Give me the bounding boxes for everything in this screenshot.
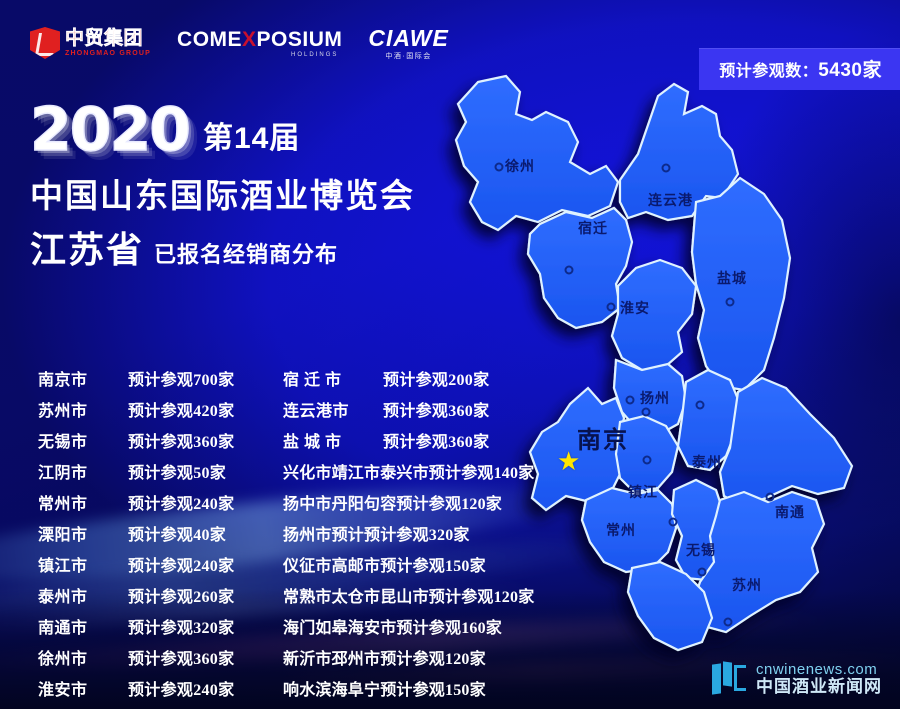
watermark-text: cnwinenews.com 中国酒业新闻网 [756, 662, 882, 697]
city-name: 南京市 [38, 366, 128, 390]
comexposium-subtext: HOLDINGS [291, 52, 338, 58]
badge-label: 预计参观数： [719, 63, 818, 80]
row-right-cell: 盐 城 市 预计参观360家 [283, 428, 558, 452]
map-label-xuzhou: 徐州 [505, 156, 535, 176]
row-right-cell: 连云港市 预计参观360家 [283, 397, 558, 421]
table-row: 镇江市 预计参观240家 仪征市高邮市预计参观150家 [38, 552, 558, 583]
city-value: 预计参观700家 [128, 366, 234, 390]
poster-canvas: 徐州 宿迁 连云港 淮安 盐城 扬州 南京 泰州 镇江 南通 常州 无锡 苏州 … [0, 0, 900, 709]
city-value: 预计参观50家 [128, 459, 226, 483]
zhongmao-wordmark: 中贸集团 ZHONGMAO GROUP [65, 29, 151, 57]
headline-block: 2020 第14届 中国山东国际酒业博览会 江苏省 已报名经销商分布 [30, 100, 500, 268]
comexposium-wordmark: COMEXPOSIUM [177, 29, 342, 50]
row-left-cell: 溧阳市 预计参观40家 [38, 521, 283, 545]
year-edition-row: 2020 第14届 [30, 100, 500, 160]
row-right-cell: 常熟市太仓市昆山市预计参观120家 [283, 583, 558, 607]
map-label-suqian: 宿迁 [578, 218, 608, 238]
table-row: 苏州市 预计参观420家 连云港市 预计参观360家 [38, 397, 558, 428]
table-row: 泰州市 预计参观260家 常熟市太仓市昆山市预计参观120家 [38, 583, 558, 614]
city-name: 镇江市 [38, 552, 128, 576]
sponsor-logo-bar: 中贸集团 ZHONGMAO GROUP COMEXPOSIUM HOLDINGS… [30, 22, 449, 64]
city-value: 预计参观360家 [383, 428, 489, 452]
comexposium-x-icon: X [242, 28, 257, 51]
row-left-cell: 南京市 预计参观700家 [38, 366, 283, 390]
row-right-cell: 新沂市邳州市预计参观120家 [283, 645, 558, 669]
zhongmao-cn-text: 中贸集团 [65, 29, 151, 48]
city-name: 江阴市 [38, 459, 128, 483]
zhongmao-shield-icon [30, 27, 60, 59]
city-group-value: 新沂市邳州市预计参观120家 [283, 645, 486, 669]
city-value: 预计参观240家 [128, 676, 234, 700]
city-name: 无锡市 [38, 428, 128, 452]
year-title: 2020 [30, 100, 189, 160]
province-title: 江苏省 [30, 232, 144, 268]
row-left-cell: 镇江市 预计参观240家 [38, 552, 283, 576]
map-label-changzhou: 常州 [606, 520, 636, 540]
table-row: 无锡市 预计参观360家 盐 城 市 预计参观360家 [38, 428, 558, 459]
province-subtitle: 已报名经销商分布 [154, 244, 338, 266]
city-value: 预计参观260家 [128, 583, 234, 607]
row-left-cell: 徐州市 预计参观360家 [38, 645, 283, 669]
site-watermark[interactable]: cnwinenews.com 中国酒业新闻网 [712, 662, 882, 697]
ciawe-wordmark: CIAWE [368, 27, 448, 50]
city-value: 预计参观320家 [128, 614, 234, 638]
city-value: 预计参观360家 [128, 645, 234, 669]
row-left-cell: 苏州市 预计参观420家 [38, 397, 283, 421]
comexposium-part-b: POSIUM [257, 28, 343, 51]
watermark-cn-name: 中国酒业新闻网 [756, 678, 882, 697]
edition-title: 第14届 [203, 124, 300, 160]
table-row: 南京市 预计参观700家 宿 迁 市 预计参观200家 [38, 366, 558, 397]
city-name: 宿 迁 市 [283, 366, 383, 390]
dealer-distribution-table: 南京市 预计参观700家 宿 迁 市 预计参观200家 苏州市 预计参观420家… [38, 366, 558, 707]
watermark-url: cnwinenews.com [756, 662, 882, 679]
city-group-value: 海门如皋海安市预计参观160家 [283, 614, 502, 638]
city-value: 预计参观200家 [383, 366, 489, 390]
cnwinenews-logo-icon [712, 662, 748, 696]
city-name: 淮安市 [38, 676, 128, 700]
city-name: 溧阳市 [38, 521, 128, 545]
city-value: 预计参观40家 [128, 521, 226, 545]
city-value: 预计参观240家 [128, 490, 234, 514]
city-name: 徐州市 [38, 645, 128, 669]
city-name: 常州市 [38, 490, 128, 514]
city-name: 南通市 [38, 614, 128, 638]
row-right-cell: 响水滨海阜宁预计参观150家 [283, 676, 558, 700]
city-value: 预计参观420家 [128, 397, 234, 421]
map-label-yangzhou: 扬州 [640, 388, 670, 408]
row-right-cell: 兴化市靖江市泰兴市预计参观140家 [283, 459, 558, 483]
row-right-cell: 宿 迁 市 预计参观200家 [283, 366, 558, 390]
row-left-cell: 无锡市 预计参观360家 [38, 428, 283, 452]
city-name: 苏州市 [38, 397, 128, 421]
map-label-zhenjiang: 镇江 [628, 482, 658, 502]
logo-zhongmao-group[interactable]: 中贸集团 ZHONGMAO GROUP [30, 27, 151, 59]
city-name: 盐 城 市 [283, 428, 383, 452]
ciawe-subtext: 中酒·国际会 [385, 53, 431, 60]
city-name: 泰州市 [38, 583, 128, 607]
zhongmao-en-text: ZHONGMAO GROUP [65, 50, 151, 57]
region-nantong[interactable] [720, 378, 852, 506]
table-row: 溧阳市 预计参观40家 扬州市预计预计参观320家 [38, 521, 558, 552]
row-left-cell: 南通市 预计参观320家 [38, 614, 283, 638]
city-value: 预计参观240家 [128, 552, 234, 576]
row-left-cell: 淮安市 预计参观240家 [38, 676, 283, 700]
logo-ciawe[interactable]: CIAWE 中酒·国际会 [368, 27, 448, 60]
table-row: 淮安市 预计参观240家 响水滨海阜宁预计参观150家 [38, 676, 558, 707]
map-label-yancheng: 盐城 [717, 268, 747, 288]
map-label-nantong: 南通 [775, 502, 805, 522]
map-label-nanjing: 南京 [577, 420, 629, 455]
map-label-suzhou: 苏州 [732, 575, 762, 595]
row-left-cell: 江阴市 预计参观50家 [38, 459, 283, 483]
city-group-value: 扬中市丹阳句容预计参观120家 [283, 490, 502, 514]
row-right-cell: 扬中市丹阳句容预计参观120家 [283, 490, 558, 514]
row-right-cell: 扬州市预计预计参观320家 [283, 521, 558, 545]
badge-value: 5430家 [818, 60, 882, 81]
expected-visitors-badge: 预计参观数：5430家 [699, 48, 900, 90]
map-label-taizhou: 泰州 [692, 452, 722, 472]
province-row: 江苏省 已报名经销商分布 [30, 232, 500, 268]
city-value: 预计参观360家 [383, 397, 489, 421]
city-group-value: 仪征市高邮市预计参观150家 [283, 552, 486, 576]
row-right-cell: 仪征市高邮市预计参观150家 [283, 552, 558, 576]
map-label-wuxi: 无锡 [686, 540, 716, 560]
comexposium-part-a: COME [177, 28, 242, 51]
city-group-value: 扬州市预计预计参观320家 [283, 521, 470, 545]
city-group-value: 常熟市太仓市昆山市预计参观120家 [283, 583, 534, 607]
row-right-cell: 海门如皋海安市预计参观160家 [283, 614, 558, 638]
table-row: 常州市 预计参观240家 扬中市丹阳句容预计参观120家 [38, 490, 558, 521]
logo-comexposium[interactable]: COMEXPOSIUM HOLDINGS [177, 29, 342, 58]
city-group-value: 兴化市靖江市泰兴市预计参观140家 [283, 459, 534, 483]
map-label-lianyungang: 连云港 [648, 190, 693, 210]
table-row: 江阴市 预计参观50家 兴化市靖江市泰兴市预计参观140家 [38, 459, 558, 490]
expo-name-title: 中国山东国际酒业博览会 [30, 178, 500, 214]
city-name: 连云港市 [283, 397, 383, 421]
map-label-huaian: 淮安 [620, 298, 650, 318]
row-left-cell: 常州市 预计参观240家 [38, 490, 283, 514]
city-value: 预计参观360家 [128, 428, 234, 452]
city-group-value: 响水滨海阜宁预计参观150家 [283, 676, 486, 700]
row-left-cell: 泰州市 预计参观260家 [38, 583, 283, 607]
table-row: 徐州市 预计参观360家 新沂市邳州市预计参观120家 [38, 645, 558, 676]
table-row: 南通市 预计参观320家 海门如皋海安市预计参观160家 [38, 614, 558, 645]
capital-star-icon: ★ [557, 448, 580, 474]
